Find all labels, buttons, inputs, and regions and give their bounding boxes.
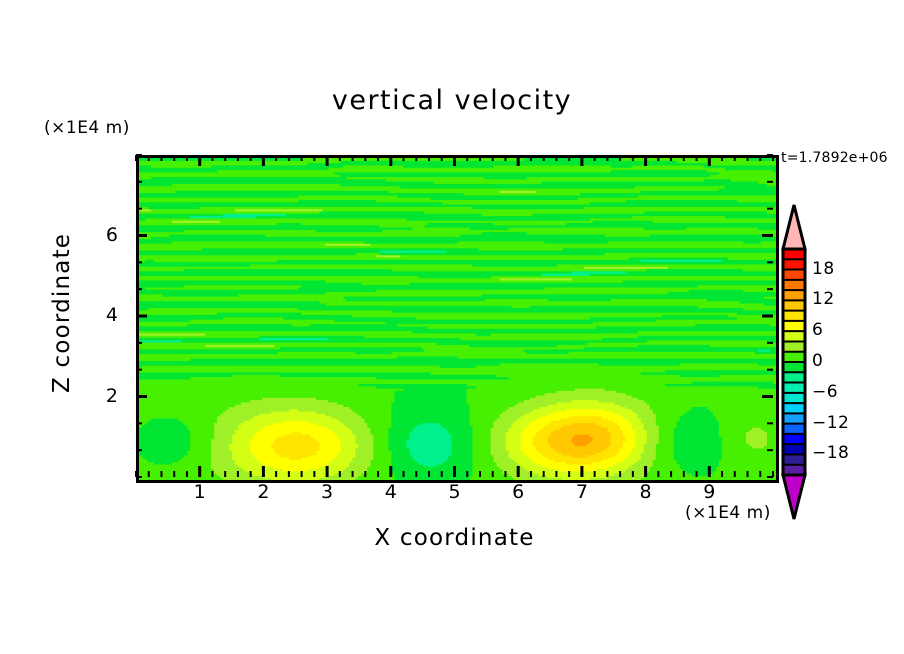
colorbar-tick-label: 18	[812, 259, 835, 279]
colorbar	[778, 203, 812, 521]
x-tick-label: 9	[689, 481, 729, 503]
x-tick-label: 5	[435, 481, 475, 503]
x-axis-title: X coordinate	[136, 525, 773, 551]
z-tick-label: 4	[88, 304, 118, 326]
z-axis-unit-label: (×1E4 m)	[44, 118, 130, 138]
colorbar-gradient	[778, 203, 812, 521]
time-annotation: t=1.7892e+06	[781, 150, 888, 166]
colorbar-tick-label: 0	[812, 351, 823, 371]
page-title: vertical velocity	[0, 85, 904, 116]
z-tick-label: 2	[88, 385, 118, 407]
x-tick-label: 6	[498, 481, 538, 503]
z-tick-label: 6	[88, 224, 118, 246]
contour-plot-area	[136, 155, 779, 483]
x-tick-label: 1	[180, 481, 220, 503]
colorbar-tick-label: −12	[812, 413, 849, 433]
x-tick-label: 7	[562, 481, 602, 503]
colorbar-tick-label: −6	[812, 382, 838, 402]
x-tick-label: 4	[371, 481, 411, 503]
colorbar-tick-label: 6	[812, 320, 823, 340]
colorbar-tick-label: −18	[812, 443, 849, 463]
colorbar-tick-label: 12	[812, 289, 835, 309]
x-tick-label: 2	[243, 481, 283, 503]
x-tick-label: 3	[307, 481, 347, 503]
vertical-velocity-field	[139, 158, 776, 480]
z-axis-title: Z coordinate	[49, 233, 75, 393]
figure-canvas: vertical velocity (×1E4 m) t=1.7892e+06 …	[0, 0, 904, 654]
x-tick-label: 8	[626, 481, 666, 503]
x-axis-unit-label: (×1E4 m)	[685, 503, 771, 523]
